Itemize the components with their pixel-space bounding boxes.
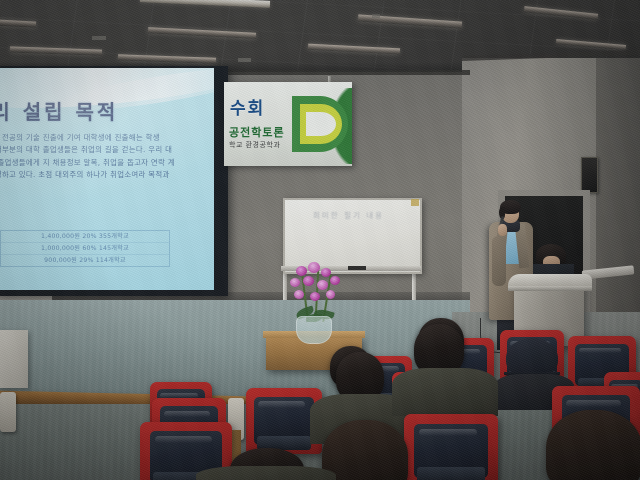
slide-body-line: 업해고 전공의 기술 진출에 기여 대학생에 진출해는 학생 bbox=[0, 132, 214, 144]
orchid-bloom bbox=[296, 266, 307, 276]
slide-body-line: 고는 대부분의 대학 졸업생들은 취업의 길을 걷는다. 우리 대 bbox=[0, 144, 214, 156]
orchid-bloom bbox=[326, 290, 335, 299]
orchid-arrangement bbox=[284, 262, 346, 324]
audience-head-foreground bbox=[322, 420, 408, 480]
audience-head-foreground bbox=[546, 410, 640, 480]
whiteboard-clip bbox=[411, 199, 419, 206]
audience-shoulders bbox=[392, 368, 498, 416]
orchid-bloom bbox=[310, 292, 320, 301]
slide-data-table: 1,400,000원 20% 355개학교 1,000,000원 60% 145… bbox=[0, 230, 170, 267]
audience-shoulders-foreground bbox=[196, 466, 336, 480]
ceiling-vent bbox=[92, 36, 106, 40]
banner-department: 학교 환경공학과 bbox=[229, 140, 280, 150]
banner-title: 수회 bbox=[230, 94, 265, 119]
slide-body-line: 행 및 졸업생들에게 지 채용정보 알복, 취업을 돕고자 연락 계 bbox=[0, 157, 214, 169]
lecture-hall-photo: 아리 설립 목적 업해고 전공의 기술 진출에 기여 대학생에 진출해는 학생 … bbox=[0, 0, 640, 480]
orchid-bloom bbox=[308, 262, 320, 273]
presenter-arm bbox=[492, 236, 506, 286]
whiteboard-eraser bbox=[348, 266, 366, 270]
auditorium-seat[interactable] bbox=[404, 414, 498, 480]
orchid-bloom bbox=[317, 280, 328, 290]
orchid-bloom bbox=[321, 268, 331, 277]
seat-armrest bbox=[0, 392, 16, 432]
lectern-edge bbox=[508, 286, 592, 291]
slide-table-row: 1,000,000원 60% 145개학교 bbox=[1, 243, 169, 255]
slide-body-line: 로 운영하고 있다. 초점 대외주의 하나가 취업소여라 목적과 bbox=[0, 169, 214, 181]
slide-body-text: 업해고 전공의 기술 진출에 기여 대학생에 진출해는 학생 고는 대부분의 대… bbox=[0, 132, 214, 182]
orchid-bloom bbox=[330, 276, 340, 285]
slide-table-row: 1,400,000원 20% 355개학교 bbox=[1, 231, 169, 243]
orchid-bloom bbox=[290, 278, 300, 287]
slide-title: 아리 설립 목적 bbox=[0, 96, 210, 125]
ceiling-sprinkler bbox=[372, 14, 380, 18]
projection-screen-surface: 아리 설립 목적 업해고 전공의 기술 진출에 기여 대학생에 진출해는 학생 … bbox=[0, 68, 214, 290]
orchid-bloom bbox=[294, 290, 304, 299]
flower-vase bbox=[296, 316, 332, 344]
projection-screen: 아리 설립 목적 업해고 전공의 기술 진출에 기여 대학생에 진출해는 학생 … bbox=[0, 66, 228, 296]
banner-chevron-icon bbox=[306, 112, 336, 136]
wall-banner: 수회 공전학토론 학교 환경공학과 bbox=[224, 82, 352, 166]
slide-table-row: 900,000원 29% 114개학교 bbox=[1, 255, 169, 266]
banner-subtitle: 공전학토론 bbox=[229, 124, 285, 140]
side-table bbox=[0, 330, 28, 388]
wall-speaker-icon bbox=[581, 157, 598, 193]
orchid-bloom bbox=[303, 276, 314, 286]
whiteboard-writing: 희미한 필기 내용 bbox=[313, 210, 413, 221]
presenter-hand bbox=[498, 224, 507, 236]
